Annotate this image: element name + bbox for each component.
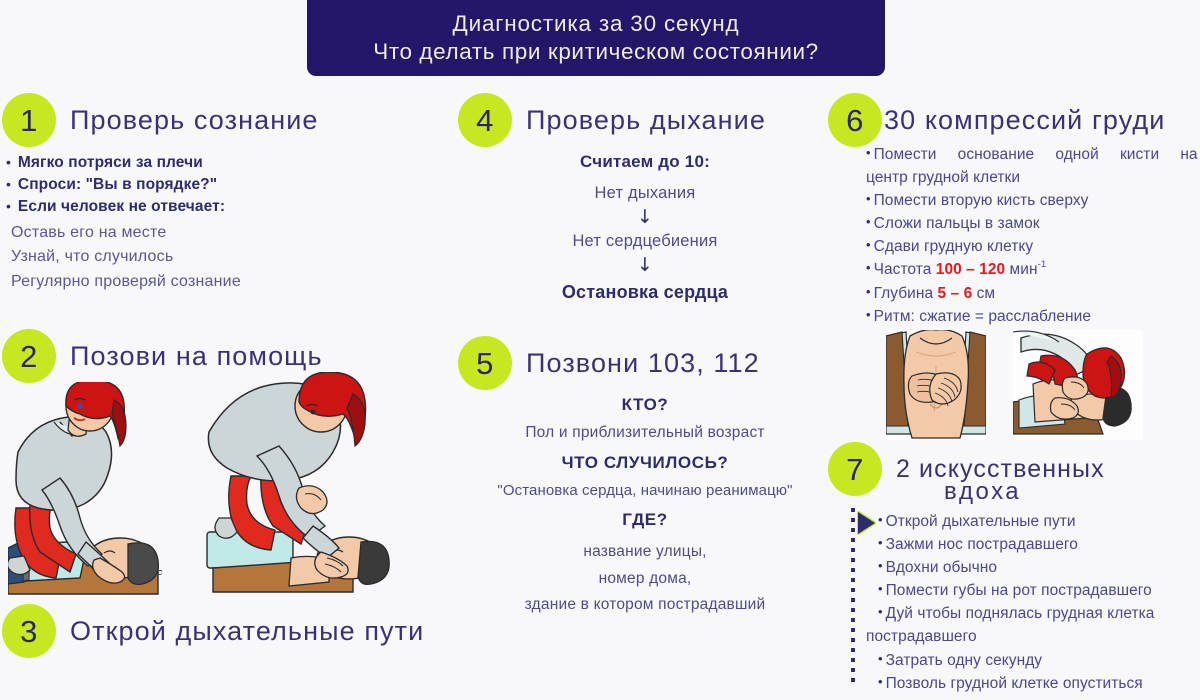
step-6-rate-value: 100 – 120 bbox=[936, 258, 1005, 281]
step-6-number: 6 bbox=[846, 105, 864, 136]
infographic-canvas: Диагностика за 30 секунд Что делать при … bbox=[0, 0, 1200, 700]
step-1-bold-0: Мягко потряси за плечи bbox=[18, 152, 203, 174]
step-5-answer-where-1: номер дома, bbox=[450, 566, 840, 593]
step-4-content: Считаем до 10: Нет дыхания ↓ Нет сердцеб… bbox=[450, 152, 840, 303]
step-6-item-2: Сложи пальцы в замок bbox=[874, 212, 1040, 235]
list-item: • Зажми нос пострадавшего bbox=[878, 533, 1198, 556]
step-7-item-2: Вдохни обычно bbox=[886, 556, 997, 579]
step-7-item-4: Дуй чтобы поднялась грудная клетка bbox=[886, 602, 1155, 625]
arrow-down-icon: ↓ bbox=[450, 207, 840, 228]
step-7-content: • Открой дыхательные пути • Зажми нос по… bbox=[878, 510, 1198, 695]
arrow-down-icon: ↓ bbox=[450, 255, 840, 276]
step-4-heading: 4 Проверь дыхание bbox=[458, 93, 766, 147]
title-line-2: Что делать при критическом состоянии? bbox=[373, 37, 819, 67]
chest-compression-hands-illustration bbox=[886, 330, 986, 440]
list-item: • Позволь грудной клетке опуститься bbox=[878, 672, 1198, 695]
step-6-rate-label: Частота bbox=[874, 258, 932, 281]
step-1-plain-0: Оставь его на месте bbox=[6, 221, 406, 245]
watermark: BLKC bbox=[143, 570, 162, 577]
step-5-question-who: КТО? bbox=[450, 395, 840, 415]
step-4-flow-2: Остановка сердца bbox=[450, 282, 840, 303]
step-3-number-badge: 3 bbox=[2, 604, 56, 658]
step-6-depth-label: Глубина bbox=[874, 282, 934, 305]
step-1-plain-2: Регулярно проверяй сознание bbox=[6, 270, 406, 294]
step-3-heading: 3 Открой дыхательные пути bbox=[2, 604, 424, 658]
dotted-connector-line bbox=[851, 508, 855, 684]
step-5-number-badge: 5 bbox=[458, 336, 512, 390]
list-item: • Мягко потряси за плечи bbox=[6, 152, 406, 174]
bullet-icon: • bbox=[866, 212, 871, 232]
rescuer-opening-airway-illustration bbox=[203, 372, 413, 597]
title-banner: Диагностика за 30 секунд Что делать при … bbox=[307, 0, 885, 76]
step-6-item-0: Помести основание одной кисти на bbox=[874, 143, 1198, 166]
list-item-depth: • Глубина 5 – 6 см bbox=[866, 282, 1200, 305]
step-2-title: Позови на помощь bbox=[70, 341, 323, 372]
list-item: • Затрать одну секунду bbox=[878, 649, 1198, 672]
list-item: • Спроси: "Вы в порядке?" bbox=[6, 174, 406, 196]
list-item: • Сдави грудную клетку bbox=[866, 235, 1200, 258]
step-6-content: • Помести основание одной кисти на центр… bbox=[866, 143, 1200, 328]
step-1-title: Проверь сознание bbox=[70, 105, 319, 136]
step-6-rate-exponent: -1 bbox=[1038, 258, 1047, 272]
step-5-question-where: ГДЕ? bbox=[450, 510, 840, 530]
bullet-icon: • bbox=[878, 672, 883, 692]
step-4-number: 4 bbox=[476, 105, 494, 136]
step-4-number-badge: 4 bbox=[458, 93, 512, 147]
bullet-icon: • bbox=[866, 189, 871, 209]
bullet-icon: • bbox=[878, 649, 883, 669]
step-6-item-3: Сдави грудную клетку bbox=[874, 235, 1034, 258]
step-5-answer-where-2: здание в котором пострадавший bbox=[450, 592, 840, 619]
step-7-item-4-cont-row: пострадавшего bbox=[866, 625, 1198, 648]
step-1-heading: 1 Проверь сознание bbox=[2, 93, 319, 147]
bullet-icon: • bbox=[878, 602, 883, 622]
bullet-icon: • bbox=[866, 143, 871, 163]
step-6-title: 30 компрессий груди bbox=[884, 105, 1165, 136]
step-6-heading: 6 30 компрессий груди bbox=[828, 93, 1165, 147]
step-1-bold-1: Спроси: "Вы в порядке?" bbox=[18, 174, 217, 196]
step-6-rate-unit: мин bbox=[1010, 258, 1038, 281]
step-5-heading: 5 Позвони 103, 112 bbox=[458, 336, 760, 390]
bullet-icon: • bbox=[878, 556, 883, 576]
step-6-item-0-cont-row: центр грудной клетки bbox=[866, 166, 1200, 189]
step-7-item-6: Позволь грудной клетке опуститься bbox=[886, 672, 1143, 695]
step-2-number: 2 bbox=[20, 341, 38, 372]
list-item: • Помести вторую кисть сверху bbox=[866, 189, 1200, 212]
step-1-plain-1: Узнай, что случилось bbox=[6, 245, 406, 269]
list-item: • Сложи пальцы в замок bbox=[866, 212, 1200, 235]
step-4-heading-text: Считаем до 10: bbox=[450, 152, 840, 172]
bullet-icon: • bbox=[6, 174, 11, 196]
step-5-number: 5 bbox=[476, 348, 494, 379]
step-4-flow-1: Нет сердцебиения bbox=[450, 232, 840, 251]
title-line-1: Диагностика за 30 секунд bbox=[453, 10, 740, 37]
step-3-title: Открой дыхательные пути bbox=[70, 616, 424, 647]
bullet-icon: • bbox=[866, 305, 871, 325]
step-7-item-0: Открой дыхательные пути bbox=[886, 510, 1076, 533]
bullet-icon: • bbox=[878, 510, 883, 530]
list-item: • Если человек не отвечает: bbox=[6, 196, 406, 218]
bullet-icon: • bbox=[6, 152, 11, 174]
step-6-number-badge: 6 bbox=[828, 93, 882, 147]
bullet-icon: • bbox=[878, 533, 883, 553]
list-item: • Вдохни обычно bbox=[878, 556, 1198, 579]
play-triangle-icon bbox=[858, 512, 875, 534]
step-6-item-1: Помести вторую кисть сверху bbox=[874, 189, 1089, 212]
step-2-number-badge: 2 bbox=[2, 329, 56, 383]
list-item-rate: • Частота 100 – 120 мин -1 bbox=[866, 258, 1200, 281]
step-4-flow-0: Нет дыхания bbox=[450, 184, 840, 203]
list-item: • Открой дыхательные пути bbox=[878, 510, 1198, 533]
step-7-number: 7 bbox=[846, 454, 864, 485]
step-5-answer-what: "Остановка сердца, начинаю реанимацю" bbox=[450, 482, 840, 499]
step-6-rhythm: Ритм: сжатие = расслабление bbox=[874, 305, 1091, 328]
step-6-depth-unit: см bbox=[977, 282, 996, 305]
step-1-number: 1 bbox=[20, 105, 38, 136]
step-7-item-4-cont: пострадавшего bbox=[866, 625, 977, 648]
step-3-number: 3 bbox=[20, 616, 38, 647]
list-item: • Помести губы на рот пострадавшего bbox=[878, 579, 1198, 602]
bullet-icon: • bbox=[866, 282, 871, 302]
list-item: • Дуй чтобы поднялась грудная клетка bbox=[878, 602, 1198, 625]
step-1-content: • Мягко потряси за плечи • Спроси: "Вы в… bbox=[6, 152, 406, 294]
step-5-title: Позвони 103, 112 bbox=[526, 348, 760, 379]
step-1-number-badge: 1 bbox=[2, 93, 56, 147]
step-1-bold-2: Если человек не отвечает: bbox=[18, 196, 225, 218]
rescuer-shaking-shoulders-illustration bbox=[8, 382, 198, 597]
step-7-item-1: Зажми нос пострадавшего bbox=[886, 533, 1078, 556]
bullet-icon: • bbox=[878, 579, 883, 599]
list-item: • Ритм: сжатие = расслабление bbox=[866, 305, 1200, 328]
step-6-depth-value: 5 – 6 bbox=[938, 282, 973, 305]
step-4-title: Проверь дыхание bbox=[526, 105, 766, 136]
bullet-icon: • bbox=[6, 196, 11, 218]
step-5-question-what: ЧТО СЛУЧИЛОСЬ? bbox=[450, 453, 840, 473]
list-item: • Помести основание одной кисти на bbox=[866, 143, 1200, 166]
step-5-answer-where-0: название улицы, bbox=[450, 539, 840, 566]
step-5-content: КТО? Пол и приблизительный возраст ЧТО С… bbox=[450, 395, 840, 619]
step-7-number-badge: 7 bbox=[828, 442, 882, 496]
bullet-icon: • bbox=[866, 258, 871, 278]
step-7-item-5: Затрать одну секунду bbox=[886, 649, 1043, 672]
step-7-title-line-2: вдоха bbox=[944, 478, 1021, 506]
bullet-icon: • bbox=[866, 235, 871, 255]
step-7-item-3: Помести губы на рот пострадавшего bbox=[886, 579, 1152, 602]
rescue-breathing-illustration bbox=[1013, 330, 1143, 440]
step-5-answer-who: Пол и приблизительный возраст bbox=[450, 424, 840, 442]
step-6-item-0-cont: центр грудной клетки bbox=[866, 166, 1020, 189]
